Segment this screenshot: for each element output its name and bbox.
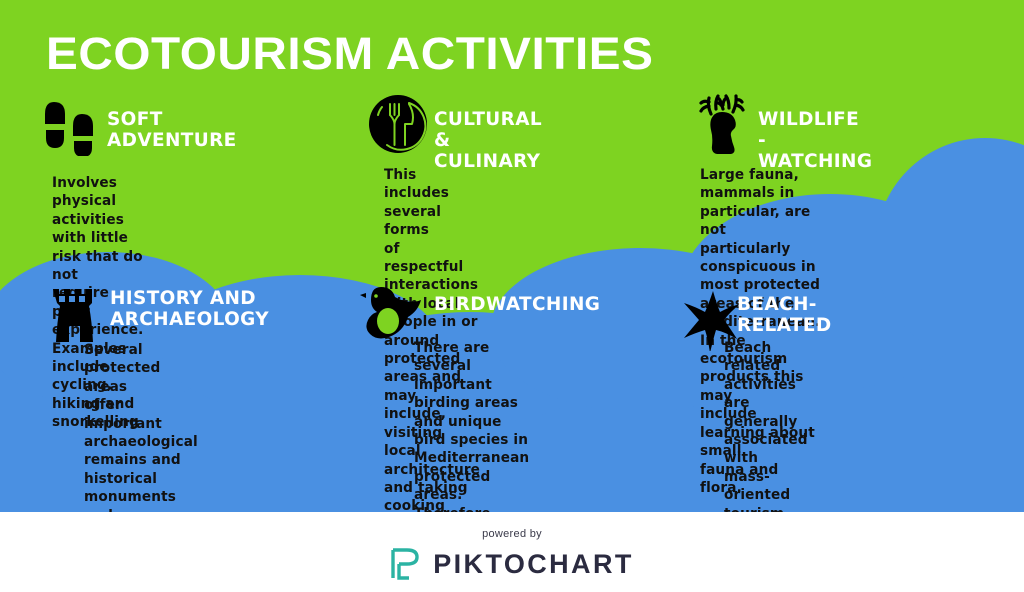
bird-icon xyxy=(358,283,428,345)
piktochart-logo[interactable]: PIKTOCHART xyxy=(0,548,1024,580)
section-heading: WILDLIFE - WATCHING xyxy=(758,109,872,172)
section-heading: BEACH-RELATED xyxy=(737,294,832,336)
section-heading: HISTORY AND ARCHAEOLOGY xyxy=(110,288,269,330)
footprints-icon xyxy=(44,94,106,156)
footer: powered by PIKTOCHART xyxy=(0,512,1024,592)
piktochart-wordmark: PIKTOCHART xyxy=(433,549,634,580)
page-title: ECOTOURISM ACTIVITIES xyxy=(46,26,653,82)
section-heading: BIRDWATCHING xyxy=(434,294,600,315)
castle-tower-icon xyxy=(44,284,100,342)
section-body: Several protected areas offer important … xyxy=(84,341,198,512)
section-heading: SOFT ADVENTURE xyxy=(107,109,237,151)
infographic-canvas: ECOTOURISM ACTIVITIES SOFT ADVENTURE Inv… xyxy=(0,0,1024,592)
section-body: There are several important birding area… xyxy=(414,339,529,512)
section-heading: CULTURAL & CULINARY xyxy=(434,109,542,172)
poster-area: ECOTOURISM ACTIVITIES SOFT ADVENTURE Inv… xyxy=(0,0,1024,512)
section-body: Beach related activities are generally a… xyxy=(724,339,815,512)
deer-head-icon xyxy=(692,92,754,154)
cutlery-plate-icon xyxy=(368,94,428,154)
poster-content: ECOTOURISM ACTIVITIES SOFT ADVENTURE Inv… xyxy=(0,0,1024,512)
powered-by-label: powered by xyxy=(0,528,1024,540)
piktochart-p-icon xyxy=(390,548,420,580)
